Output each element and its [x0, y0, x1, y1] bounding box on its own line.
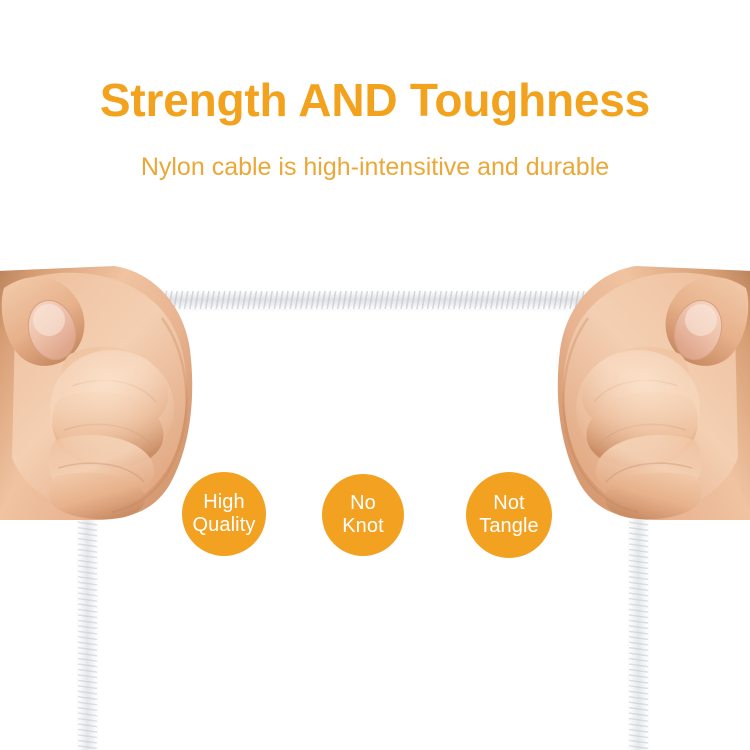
- feature-badge-not-tangle: Not Tangle: [466, 472, 552, 558]
- feature-badge-line1: Not: [493, 492, 524, 515]
- feature-badge-line2: Knot: [342, 515, 384, 538]
- feature-badge-line2: Quality: [193, 514, 256, 537]
- feature-badge-line1: High: [203, 491, 245, 514]
- feature-badge-line1: No: [350, 492, 376, 515]
- page-subtitle: Nylon cable is high-intensitive and dura…: [0, 150, 750, 184]
- feature-badge-no-knot: No Knot: [322, 474, 404, 556]
- feature-badge-line2: Tangle: [479, 515, 539, 538]
- feature-badge-high-quality: High Quality: [182, 472, 266, 556]
- product-feature-banner: Strength AND Toughness Nylon cable is hi…: [0, 0, 750, 750]
- right-fist-image: [508, 258, 750, 520]
- page-title: Strength AND Toughness: [0, 72, 750, 128]
